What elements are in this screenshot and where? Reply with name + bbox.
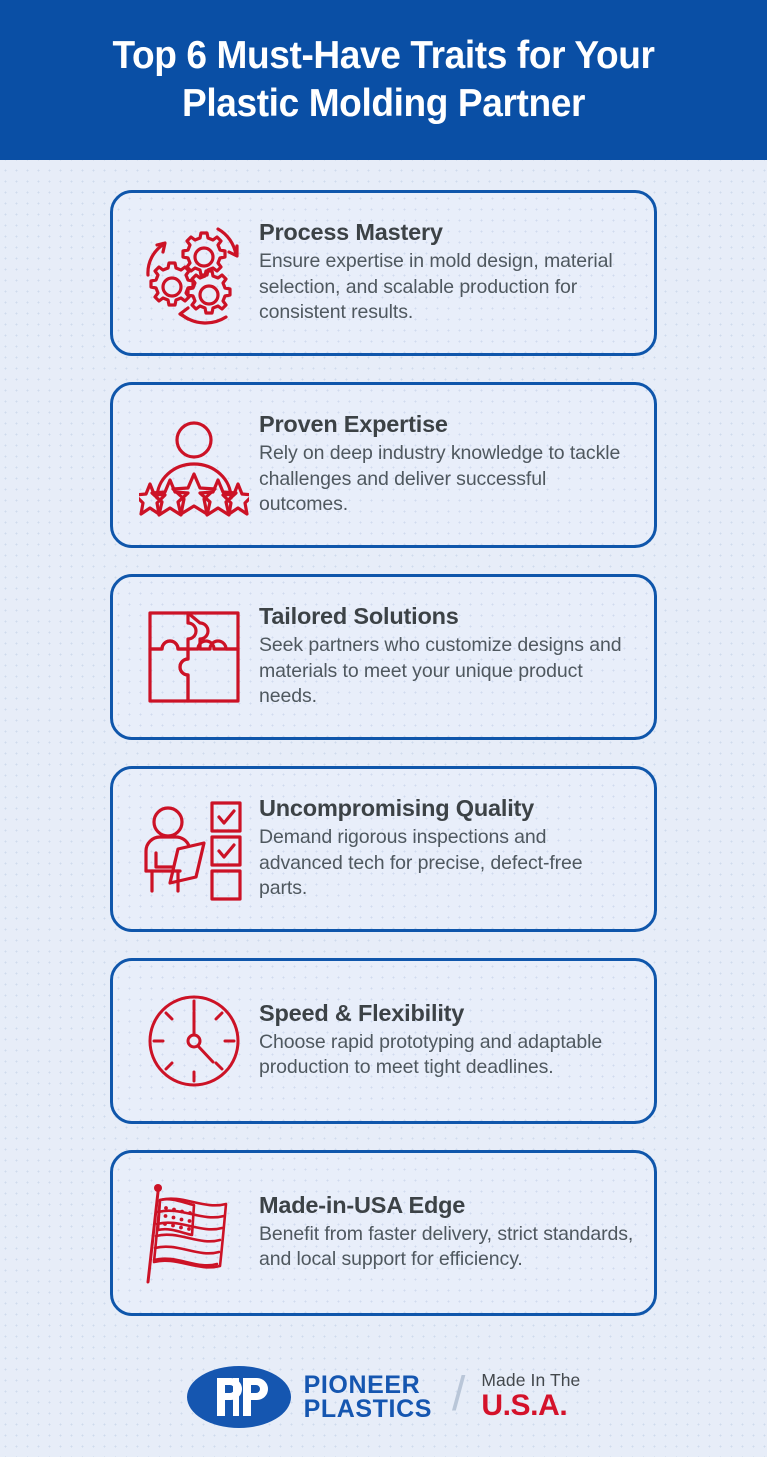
divider-slash: / [452,1371,465,1419]
trait-card[interactable]: Proven Expertise Rely on deep industry k… [110,382,657,548]
trait-card-text: Speed & Flexibility Choose rapid prototy… [253,1001,638,1081]
usa-flag-icon [135,1174,253,1292]
trait-card-title: Uncompromising Quality [259,796,634,822]
pioneer-plastics-pp-monogram-icon [187,1366,291,1428]
trait-card-description: Benefit from faster delivery, strict sta… [259,1222,634,1273]
trait-card-list: Process Mastery Ensure expertise in mold… [0,160,767,1337]
trait-card-description: Ensure expertise in mold design, materia… [259,249,634,326]
footer: PIONEER PLASTICS / Made In The U.S.A. [0,1337,767,1457]
pioneer-plastics-logo[interactable]: PIONEER PLASTICS [187,1366,432,1428]
trait-card-text: Tailored Solutions Seek partners who cus… [253,604,638,710]
brand-wordmark: PIONEER PLASTICS [304,1373,432,1422]
trait-card[interactable]: Process Mastery Ensure expertise in mold… [110,190,657,356]
gears-process-icon [135,214,253,332]
trait-card-title: Proven Expertise [259,412,634,438]
trait-card[interactable]: Tailored Solutions Seek partners who cus… [110,574,657,740]
trait-card-description: Rely on deep industry knowledge to tackl… [259,441,634,518]
trait-card-title: Tailored Solutions [259,604,634,630]
brand-line-plastics: PLASTICS [304,1397,432,1422]
infographic-page: Top 6 Must-Have Traits for Your Plastic … [0,0,767,1457]
header-banner: Top 6 Must-Have Traits for Your Plastic … [0,0,767,160]
trait-card-description: Choose rapid prototyping and adaptable p… [259,1030,634,1081]
inspector-checklist-icon [135,790,253,908]
person-stars-rating-icon [135,406,253,524]
usa-label: U.S.A. [481,1391,580,1422]
clock-icon [135,982,253,1100]
trait-card-text: Uncompromising Quality Demand rigorous i… [253,796,638,902]
trait-card[interactable]: Uncompromising Quality Demand rigorous i… [110,766,657,932]
brand-line-pioneer: PIONEER [304,1373,432,1398]
made-in-usa-badge: Made In The U.S.A. [481,1372,580,1421]
trait-card-title: Made-in-USA Edge [259,1193,634,1219]
trait-card-title: Speed & Flexibility [259,1001,634,1027]
trait-card-text: Proven Expertise Rely on deep industry k… [253,412,638,518]
page-title: Top 6 Must-Have Traits for Your Plastic … [19,32,748,127]
trait-card[interactable]: Speed & Flexibility Choose rapid prototy… [110,958,657,1124]
trait-card-title: Process Mastery [259,220,634,246]
trait-card[interactable]: Made-in-USA Edge Benefit from faster del… [110,1150,657,1316]
puzzle-pieces-icon [135,598,253,716]
trait-card-description: Seek partners who customize designs and … [259,633,634,710]
made-in-the-label: Made In The [481,1372,580,1390]
trait-card-text: Process Mastery Ensure expertise in mold… [253,220,638,326]
trait-card-text: Made-in-USA Edge Benefit from faster del… [253,1193,638,1273]
trait-card-description: Demand rigorous inspections and advanced… [259,825,634,902]
